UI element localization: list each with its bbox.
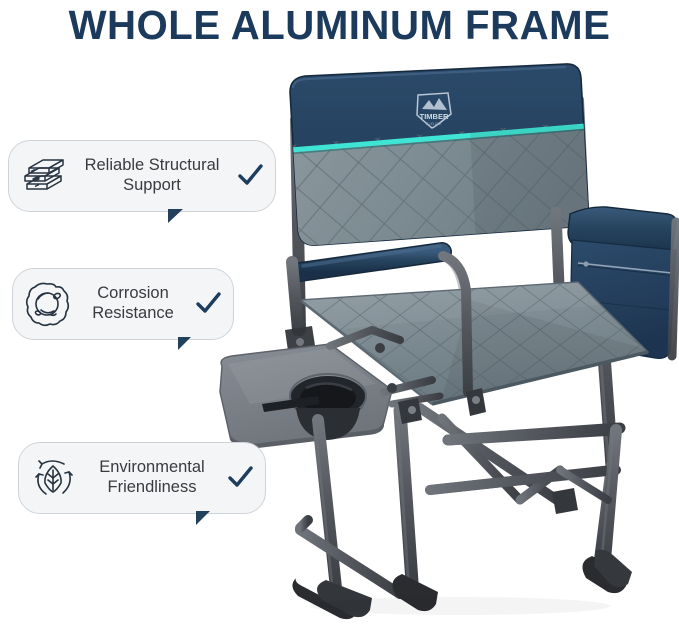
checkmark-icon [235, 161, 265, 191]
stacked-beams-icon [17, 150, 69, 202]
callout-reliable-structural-support[interactable]: Reliable Structural Support [8, 140, 276, 212]
checkmark-icon [193, 289, 223, 319]
callout-label: Environmental Friendliness [79, 458, 225, 498]
corroded-ring-icon [21, 278, 73, 330]
callout-tail [168, 209, 187, 223]
callout-environmental-friendliness[interactable]: Environmental Friendliness [18, 442, 266, 514]
callout-tail [178, 337, 194, 350]
callout-label: Reliable Structural Support [69, 156, 235, 196]
callout-label: Corrosion Resistance [73, 284, 193, 324]
callout-tail [196, 511, 214, 525]
callout-corrosion-resistance[interactable]: Corrosion Resistance [12, 268, 234, 340]
leaf-recycle-icon [27, 452, 79, 504]
checkmark-icon [225, 463, 255, 493]
svg-text:RIDGE: RIDGE [426, 121, 443, 126]
svg-text:TIMBER: TIMBER [420, 112, 449, 121]
